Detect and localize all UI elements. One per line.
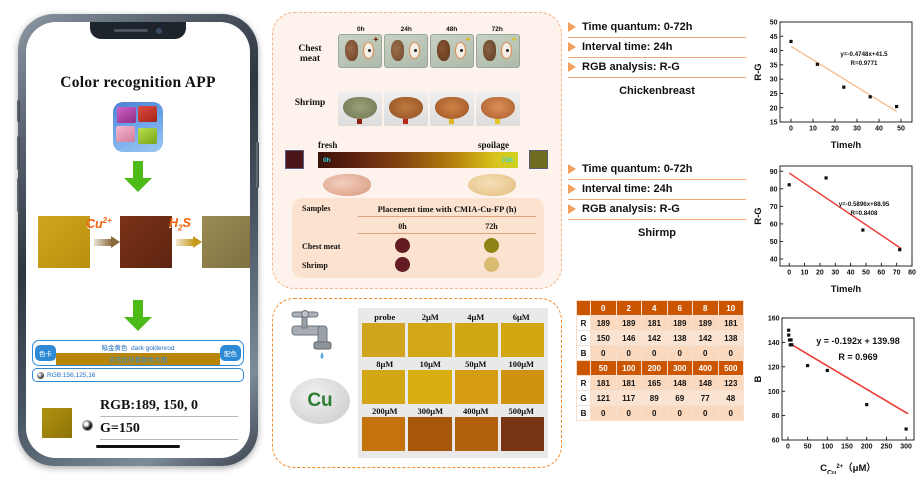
samples-header: Samples [302,204,330,213]
table-cell: 148 [693,376,719,391]
table-cell: 189 [616,316,642,331]
phone-side-button-volume-down[interactable] [17,178,20,212]
cube-red [138,106,157,122]
table-cell: 0 [718,346,744,361]
front-camera-icon [156,28,162,34]
phone-screen: Color recognition APP Cu2+ [26,22,250,458]
svg-text:30: 30 [770,77,778,84]
table-row-label: B [577,406,591,421]
chest-meat-photo-strip [338,34,520,68]
time-tick: 48h [429,26,475,33]
samples-summary-card: Samples Placement time with CMIA-Cu-FP (… [292,198,544,278]
shrimp-parameters-list: Time quantum: 0-72h Interval time: 24h R… [568,160,746,239]
cu-element-badge: Cu [290,378,350,424]
svg-text:140: 140 [768,340,780,347]
table-cell: 181 [616,376,642,391]
svg-text:150: 150 [841,444,853,451]
cube-pink [116,126,135,142]
table-header-cell: 4 [642,301,668,316]
row-label-shrimp: Shrimp [288,98,332,108]
spoiled-meat-photo [468,174,516,196]
shrimp-photo [430,92,474,126]
table-cell: 146 [616,331,642,346]
triangle-bullet-icon [568,184,576,194]
table-row-label: R [577,376,591,391]
sample-dot [484,238,499,253]
table-header-cell: 200 [642,361,668,376]
svg-text:100: 100 [768,389,780,396]
row-label-chest-meat: Chest meat [288,44,332,65]
svg-text:70: 70 [893,270,901,277]
table-cell: 0 [591,406,617,421]
svg-text:250: 250 [881,444,893,451]
end-swatch-spoilage [529,150,548,169]
conc-swatch [455,417,498,451]
down-arrow-icon-1 [123,161,153,193]
conc-label: 2μM [408,312,454,322]
conc-label: 50μM [453,359,499,369]
conc-swatch [501,417,544,451]
triangle-bullet-icon [568,62,576,72]
svg-text:60: 60 [770,221,778,228]
triangle-bullet-icon [568,22,576,32]
table-row: R181181165148148123 [577,376,744,391]
table-row-label: G [577,391,591,406]
conc-label: probe [362,312,408,322]
svg-text:15: 15 [770,120,778,127]
table-corner-cell [577,361,591,376]
table-cell: 0 [667,346,693,361]
svg-text:20: 20 [816,270,824,277]
triangle-bullet-icon [568,204,576,214]
svg-text:30: 30 [853,126,861,133]
fresh-meat-photo [323,174,371,196]
svg-text:10: 10 [801,270,809,277]
home-indicator[interactable] [96,445,180,448]
svg-text:0: 0 [789,126,793,133]
svg-text:CCu2+（μM）: CCu2+（μM） [820,462,876,474]
svg-text:40: 40 [875,126,883,133]
conc-label: 6μM [499,312,545,322]
table-header-cell: 100 [616,361,642,376]
tray-photo [384,34,428,68]
table-cell: 0 [616,406,642,421]
reagent-label-h2s: H2S [169,216,191,233]
fresh-label: fresh [318,140,337,150]
table-cell: 0 [693,346,719,361]
tray-photo [338,34,382,68]
page-title: Color recognition APP [26,74,250,92]
table-cell: 138 [718,331,744,346]
table-cell: 121 [591,391,617,406]
svg-text:25: 25 [770,91,778,98]
svg-text:100: 100 [821,444,833,451]
freshness-gradient-bar: 0h 72h [318,152,518,168]
table-cell: 69 [667,391,693,406]
table-header-cell: 10 [718,301,744,316]
svg-text:R=0.8408: R=0.8408 [850,210,878,217]
table-cell: 0 [693,406,719,421]
color-card-bar: 色卡 暗金黄色 dark goldenrod 点击此处看颜色大图 配色 [32,340,244,366]
cube-magenta [117,107,136,123]
svg-text:200: 200 [861,444,873,451]
table-row: B000000 [577,346,744,361]
table-cell: 189 [667,316,693,331]
tray-photo [476,34,520,68]
rgb-readout-text: RGB:156,125,16 [47,372,95,379]
list-item: Time quantum: 0-72h [568,18,746,38]
svg-text:80: 80 [770,186,778,193]
table-row-label: G [577,331,591,346]
conc-swatch [362,370,405,404]
svg-text:0: 0 [787,270,791,277]
samples-row-label: Chest meat [302,242,340,251]
table-cell: 189 [693,316,719,331]
list-item-label: Interval time: 24h [582,41,672,53]
rgb-data-table: 0246810R189189181189189181G1501461421381… [576,300,744,421]
samples-dot-row [358,257,536,272]
list-item: Time quantum: 0-72h [568,160,746,180]
svg-text:80: 80 [772,413,780,420]
svg-text:60: 60 [877,270,885,277]
conc-swatch [408,370,451,404]
time-tick: 0h [338,26,384,33]
table-cell: 181 [591,376,617,391]
table-header-cell: 6 [667,301,693,316]
spoilage-label: spoilage [478,140,509,150]
svg-text:R-G: R-G [753,63,764,80]
conc-label: 10μM [408,359,454,369]
conc-swatch [362,417,405,451]
svg-text:70: 70 [770,204,778,211]
list-item-label: Time quantum: 0-72h [582,163,692,175]
speaker-icon [114,29,148,32]
svg-text:10: 10 [809,126,817,133]
table-header-cell: 50 [591,361,617,376]
svg-text:50: 50 [770,20,778,27]
conc-swatch-row [362,370,544,404]
samples-time-col: 72h [447,222,536,231]
table-cell: 117 [616,391,642,406]
sample-dot [395,238,410,253]
sample-name-chicken: Chickenbreast [568,78,746,97]
table-header-row: 0246810 [577,301,744,316]
conc-swatch [362,323,405,357]
svg-text:40: 40 [770,257,778,264]
table-cell: 181 [718,316,744,331]
gradient-end-label: 72h [502,157,513,164]
list-item-label: RGB analysis: R-G [582,203,680,215]
table-cell: 89 [642,391,668,406]
color-preview-strip[interactable]: 点击此处看颜色大图 [56,353,220,365]
swatch-h2s-product [202,216,250,268]
conc-swatch-row [362,417,544,451]
svg-text:y = -0.192x + 139.98: y = -0.192x + 139.98 [816,336,900,346]
conc-label: 8μM [362,359,408,369]
cube-green [138,128,157,144]
reaction-sequence: Cu2+ H2S [36,214,240,270]
result-rgb-text: RGB:189, 150, 0 [100,398,238,414]
samples-time-header: 0h 72h [358,222,536,234]
time-tick-row: 0h 24h 48h 72h [338,26,520,33]
table-cell: 189 [591,316,617,331]
svg-text:Time/h: Time/h [831,284,862,294]
svg-text:40: 40 [770,48,778,55]
svg-text:160: 160 [768,316,780,323]
result-radio-icon[interactable] [82,420,93,431]
rgb-readout-bar: RGB:156,125,16 [32,368,244,382]
table-row: B000000 [577,406,744,421]
table-row: G150146142138142138 [577,331,744,346]
color-name-group: 暗金黄色 dark goldenrod 点击此处看颜色大图 [56,342,220,365]
color-card-button[interactable]: 色卡 [35,345,56,361]
reagent-label-cu: Cu2+ [86,216,112,231]
conc-swatch-row [362,323,544,357]
sample-dot [395,257,410,272]
svg-text:300: 300 [900,444,912,451]
svg-text:35: 35 [770,62,778,69]
chart-chicken-rg-vs-time: 010203040501520253035404550y=-0.4748x+41… [752,14,920,150]
svg-text:80: 80 [908,270,916,277]
conc-label-row: 8μM 10μM 50μM 100μM [362,359,544,369]
table-cell: 123 [718,376,744,391]
table-header-cell: 300 [667,361,693,376]
table-header-cell: 2 [616,301,642,316]
conc-label: 200μM [362,406,408,416]
phone-mockup: Color recognition APP Cu2+ [18,14,258,466]
conc-label: 500μM [499,406,545,416]
down-arrow-icon-2 [123,300,153,332]
list-item-label: RGB analysis: R-G [582,61,680,73]
conc-swatch [408,417,451,451]
samples-card-title: Placement time with CMIA-Cu-FP (h) [358,204,536,217]
svg-text:y=-0.5896x+88.95: y=-0.5896x+88.95 [839,201,890,208]
triangle-bullet-icon [568,42,576,52]
svg-text:R-G: R-G [753,207,764,224]
faucet-drip-icon [288,310,350,362]
table-cell: 0 [642,406,668,421]
list-item: Interval time: 24h [568,180,746,200]
svg-text:0: 0 [786,444,790,451]
gradient-start-label: 0h [323,157,331,164]
end-swatch-fresh [285,150,304,169]
arrow-right-icon-2 [176,236,202,248]
svg-text:60: 60 [772,438,780,445]
table-cell: 142 [642,331,668,346]
conc-swatch [501,323,544,357]
svg-text:50: 50 [804,444,812,451]
table-cell: 0 [718,406,744,421]
eyedropper-icon [37,372,44,379]
svg-text:90: 90 [770,169,778,176]
samples-time-col: 0h [358,222,447,231]
table-cell: 48 [718,391,744,406]
color-match-button[interactable]: 配色 [220,345,241,361]
svg-text:40: 40 [847,270,855,277]
svg-text:20: 20 [831,126,839,133]
conc-label-row: 200μM 300μM 400μM 500μM [362,406,544,416]
conc-label: 4μM [453,312,499,322]
table-cell: 0 [667,406,693,421]
svg-text:50: 50 [770,239,778,246]
shrimp-photo-strip [338,92,520,126]
tray-photo [430,34,474,68]
phone-side-button-power[interactable] [256,142,259,188]
list-item: RGB analysis: R-G [568,58,746,78]
color-name-label: 暗金黄色 dark goldenrod [56,342,220,352]
svg-text:R = 0.969: R = 0.969 [838,352,877,362]
conc-label-row: probe 2μM 4μM 6μM [362,312,544,322]
concentration-swatch-grid: probe 2μM 4μM 6μM 8μM 10μM 50μM 100μM 20… [358,308,548,458]
divider-2 [100,439,238,440]
svg-text:120: 120 [768,364,780,371]
chart-blue-vs-cu-concentration: 0501001502002503006080100120140160y = -0… [750,302,922,474]
table-cell: 77 [693,391,719,406]
phone-notch [90,22,186,39]
conc-swatch [408,323,451,357]
phone-frame: Color recognition APP Cu2+ [18,14,258,466]
list-item: RGB analysis: R-G [568,200,746,220]
list-item-label: Interval time: 24h [582,183,672,195]
table-cell: 142 [693,331,719,346]
sample-dot [484,257,499,272]
table-cell: 165 [642,376,668,391]
svg-text:B: B [753,375,764,382]
table-cell: 148 [667,376,693,391]
conc-label: 100μM [499,359,545,369]
list-item: Interval time: 24h [568,38,746,58]
conc-swatch [501,370,544,404]
list-item-label: Time quantum: 0-72h [582,21,692,33]
chicken-parameters-list: Time quantum: 0-72h Interval time: 24h R… [568,18,746,97]
svg-text:R=0.9771: R=0.9771 [850,60,878,67]
color-cubes-icon[interactable] [113,102,163,152]
table-header-cell: 8 [693,301,719,316]
sample-name-shrimp: Shirmp [568,220,746,239]
phone-side-button-mute[interactable] [17,100,20,122]
conc-swatch [455,370,498,404]
table-header-row: 50100200300400500 [577,361,744,376]
swatch-cu-complex [120,216,172,268]
table-header-cell: 400 [693,361,719,376]
arrow-right-icon-1 [94,236,120,248]
shrimp-photo [338,92,382,126]
table-row-label: B [577,346,591,361]
triangle-bullet-icon [568,164,576,174]
svg-text:30: 30 [831,270,839,277]
shrimp-photo [384,92,428,126]
table-header-cell: 500 [718,361,744,376]
time-tick: 24h [384,26,430,33]
table-row: G12111789697748 [577,391,744,406]
table-cell: 138 [667,331,693,346]
svg-text:20: 20 [770,105,778,112]
table-cell: 0 [616,346,642,361]
table-cell: 0 [591,346,617,361]
result-g-text: G=150 [100,421,238,437]
svg-text:45: 45 [770,34,778,41]
svg-text:50: 50 [897,126,905,133]
table-cell: 0 [642,346,668,361]
table-cell: 181 [642,316,668,331]
conc-swatch [455,323,498,357]
phone-side-button-volume-up[interactable] [17,136,20,170]
shrimp-photo [476,92,520,126]
svg-text:50: 50 [862,270,870,277]
conc-label: 300μM [408,406,454,416]
samples-dot-row [358,238,536,253]
time-tick: 72h [475,26,521,33]
conc-label: 400μM [453,406,499,416]
divider-1 [100,416,238,417]
swatch-probe [38,216,90,268]
table-corner-cell [577,301,591,316]
table-header-cell: 0 [591,301,617,316]
samples-row-label: Shrimp [302,261,328,270]
svg-text:y=-0.4748x+41.5: y=-0.4748x+41.5 [840,51,888,58]
svg-text:Time/h: Time/h [831,140,862,150]
table-row-label: R [577,316,591,331]
result-swatch [42,408,72,438]
chart-shrimp-rg-vs-time: 01020304050607080405060708090y=-0.5896x+… [752,158,920,294]
table-row: R189189181189189181 [577,316,744,331]
table-cell: 150 [591,331,617,346]
